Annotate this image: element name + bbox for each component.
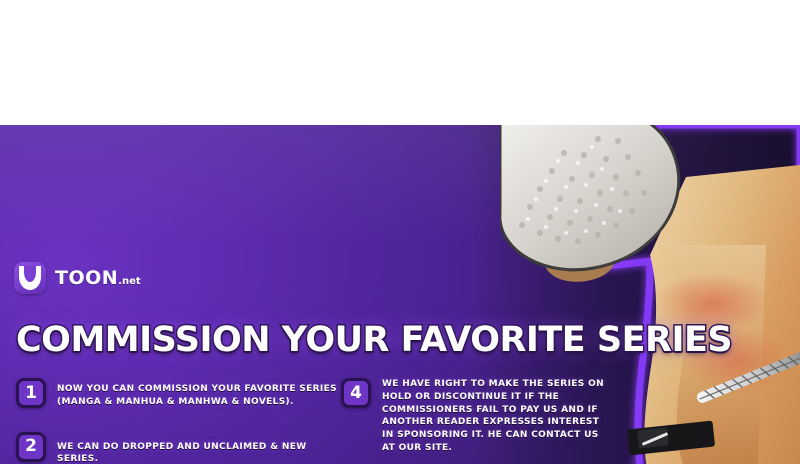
item-text: WE CAN DO DROPPED AND UNCLAIMED & NEW SE… [57,431,342,464]
dog-belt [627,421,715,456]
crescent-moon-icon [14,262,46,294]
list-item: 2 WE CAN DO DROPPED AND UNCLAIMED & NEW … [16,431,342,464]
logo-wordmark: TOON.net [55,269,141,288]
list-item: 1 NOW YOU CAN COMMISSION YOUR FAVORITE S… [16,377,342,409]
list-item: 4 WE HAVE RIGHT TO MAKE THE SERIES ON HO… [341,377,613,455]
commission-banner: TOON.net COMMISSION Your FAVORITE SERIES… [0,125,800,464]
item-text: NOW YOU CAN COMMISSION YOUR FAVORITE SER… [57,377,342,409]
banner-sheen [0,125,800,245]
item-number-badge: 2 [16,432,46,462]
rules-column-left: 1 NOW YOU CAN COMMISSION YOUR FAVORITE S… [16,377,342,464]
rules-column-right: 4 WE HAVE RIGHT TO MAKE THE SERIES ON HO… [341,377,613,464]
item-text: WE HAVE RIGHT TO MAKE THE SERIES ON HOLD… [382,377,613,455]
page-title: COMMISSION Your FAVORITE SERIES [16,323,732,358]
straw-hat [500,125,679,270]
item-number-badge: 4 [341,378,371,408]
logo-tld: .net [118,276,140,287]
dog-body [644,165,800,464]
site-logo[interactable]: TOON.net [14,262,141,294]
dog-muzzle [544,243,615,282]
top-white-area [0,0,800,125]
logo-name: TOON [55,267,118,289]
item-number-badge: 1 [16,378,46,408]
banner-page: TOON.net COMMISSION Your FAVORITE SERIES… [0,0,800,464]
